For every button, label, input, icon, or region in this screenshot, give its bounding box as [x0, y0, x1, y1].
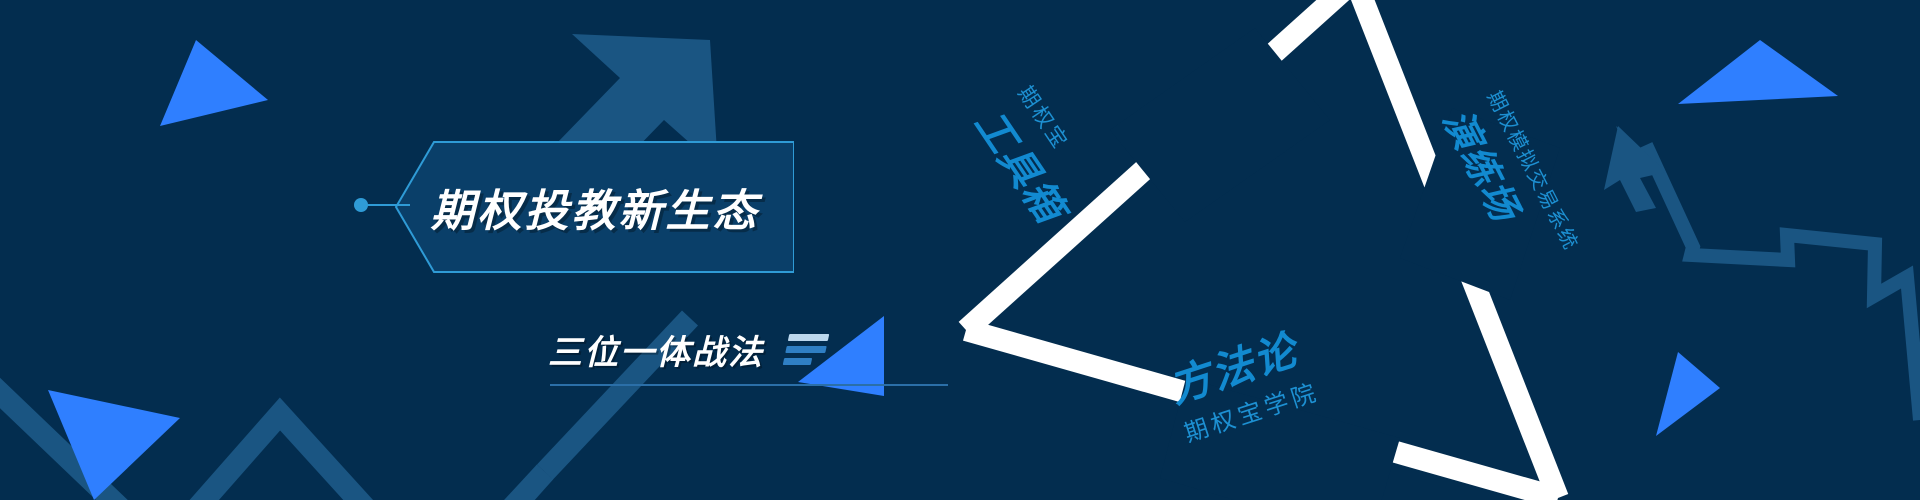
- subtitle-row: 三位一体战法: [548, 322, 968, 376]
- subtitle-divider: [550, 384, 948, 386]
- blue-triangle-bottom-right-icon: [1656, 352, 1720, 436]
- blue-triangle-top-left-icon: [160, 40, 268, 126]
- page-title: 期权投教新生态: [430, 152, 760, 262]
- zigzag-up-left-arrow-icon: [1604, 126, 1920, 425]
- three-bars-icon: [783, 334, 830, 365]
- subtitle-text: 三位一体战法: [548, 325, 764, 374]
- blue-triangle-top-right-icon: [1678, 40, 1838, 104]
- connector-dot-icon: [352, 190, 412, 220]
- banner-root: 期权投教新生态 三位一体战法 期权宝 工具箱 期权模拟交易系统 演练场 方法论 …: [0, 0, 1920, 500]
- background-decorations: [0, 0, 1920, 500]
